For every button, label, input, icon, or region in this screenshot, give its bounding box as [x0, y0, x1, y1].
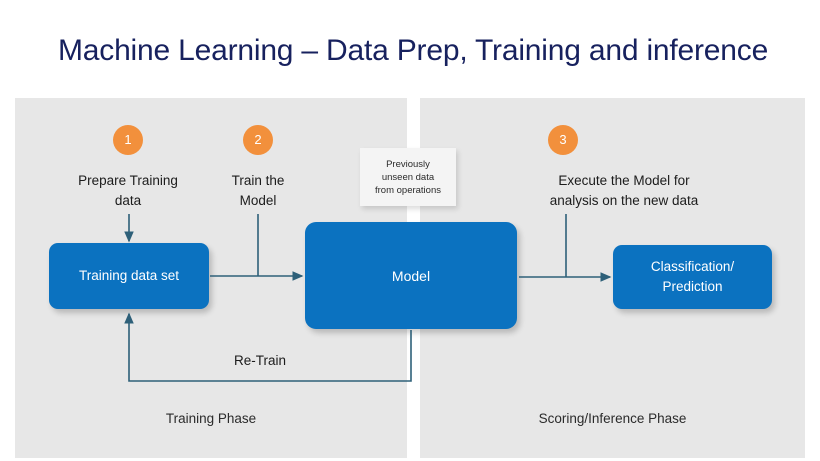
step-badge-3: 3: [548, 125, 578, 155]
callout-previously-unseen-data: Previously unseen data from operations: [360, 148, 456, 206]
page-title: Machine Learning – Data Prep, Training a…: [58, 34, 768, 68]
step-caption-train-the-model: Train the Model: [203, 171, 313, 211]
step-badge-2: 2: [243, 125, 273, 155]
step-caption-execute-the-model: Execute the Model for analysis on the ne…: [470, 171, 778, 211]
step-caption-prepare-training-data: Prepare Training data: [48, 171, 208, 211]
box-model[interactable]: Model: [305, 222, 517, 329]
box-training-data-set[interactable]: Training data set: [49, 243, 209, 309]
retrain-label: Re-Train: [205, 353, 315, 368]
phase-label-scoring: Scoring/Inference Phase: [420, 411, 805, 426]
step-badge-1: 1: [113, 125, 143, 155]
box-classification-prediction[interactable]: Classification/ Prediction: [613, 245, 772, 309]
phase-label-training: Training Phase: [15, 411, 407, 426]
